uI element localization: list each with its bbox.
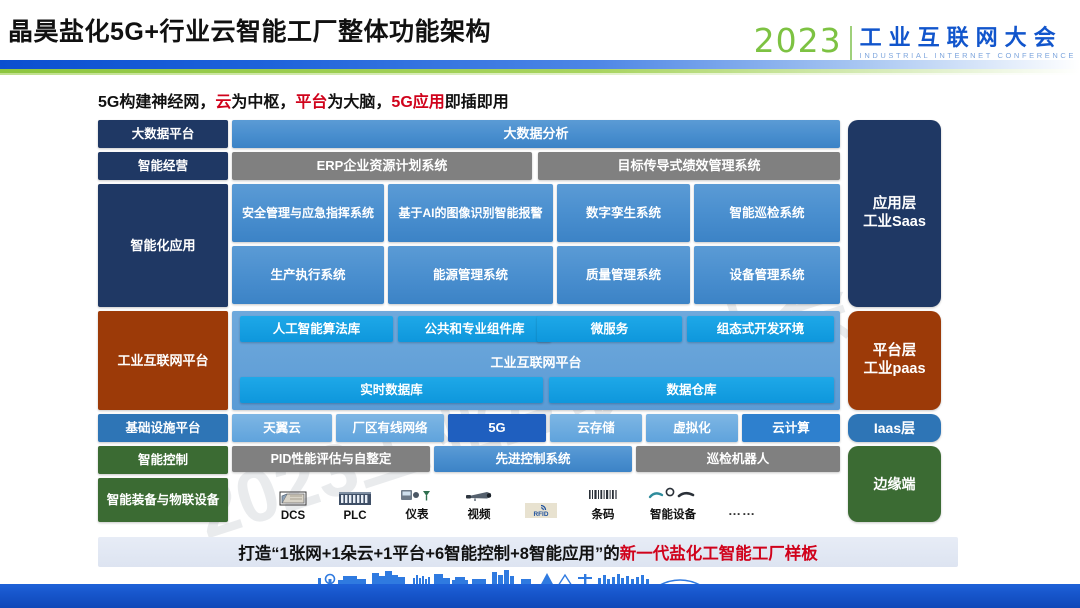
headline: 5G构建神经网，云为中枢，平台为大脑，5G应用即插即用 xyxy=(98,88,509,112)
device-label: 视频 xyxy=(468,506,491,522)
left-label-smart-operation[interactable]: 智能经营 xyxy=(98,152,228,180)
right-label-line2: 工业paas xyxy=(863,361,925,378)
device-barcode[interactable]: 条码 xyxy=(572,484,634,522)
rfid-icon: RFID xyxy=(521,500,561,520)
device-label: DCS xyxy=(281,510,305,522)
platform-center-label: 工业互联网平台 xyxy=(232,348,840,374)
cell-configuration-dev-env[interactable]: 组态式开发环境 xyxy=(687,316,834,342)
cell-erp-system[interactable]: ERP企业资源计划系统 xyxy=(232,152,532,180)
cell-advanced-control[interactable]: 先进控制系统 xyxy=(434,446,632,472)
headline-seg-2: 云 xyxy=(215,94,231,111)
left-label-infrastructure[interactable]: 基础设施平台 xyxy=(98,414,228,442)
footer-band xyxy=(0,584,1080,608)
headline-seg-3: 为中枢， xyxy=(231,94,295,111)
plc-icon xyxy=(338,488,372,508)
device-video[interactable]: 视频 xyxy=(448,484,510,522)
ellipsis-icon: …… xyxy=(728,503,756,522)
headline-seg-4: 平台 xyxy=(295,94,327,111)
left-label-smart-control[interactable]: 智能控制 xyxy=(98,446,228,474)
cell-performance-system[interactable]: 目标传导式绩效管理系统 xyxy=(538,152,840,180)
banner-text-black: 打造“1张网+1朵云+1平台+6智能控制+8智能应用”的 xyxy=(238,540,619,564)
left-label-smart-applications[interactable]: 智能化应用 xyxy=(98,184,228,307)
device-label: PLC xyxy=(344,510,367,522)
right-label-edge-layer[interactable]: 边缘端 xyxy=(848,446,941,522)
right-label-line1: Iaas层 xyxy=(874,420,915,437)
device-label: 仪表 xyxy=(406,506,429,522)
cell-cloud-computing[interactable]: 云计算 xyxy=(742,414,840,442)
dcs-icon xyxy=(278,488,308,508)
headline-seg-1: 5G构建神经网， xyxy=(98,94,215,111)
cell-microservices[interactable]: 微服务 xyxy=(537,316,682,342)
logo-chinese-name: 工业互联网大会 xyxy=(860,26,1076,50)
cell-data-warehouse[interactable]: 数据仓库 xyxy=(549,377,834,403)
right-label-application-layer[interactable]: 应用层 工业Saas xyxy=(848,120,941,307)
device-row: DCS PLC 仪表 视频 RFID xyxy=(262,480,840,522)
right-label-line1: 边缘端 xyxy=(874,476,916,493)
cell-virtualization[interactable]: 虚拟化 xyxy=(646,414,738,442)
cell-realtime-database[interactable]: 实时数据库 xyxy=(240,377,543,403)
camera-icon xyxy=(461,484,497,504)
architecture-diagram: 大数据平台 智能经营 智能化应用 工业互联网平台 基础设施平台 智能控制 智能装… xyxy=(0,112,1080,542)
cell-ai-algorithm-library[interactable]: 人工智能算法库 xyxy=(240,316,393,342)
svg-text:RFID: RFID xyxy=(534,511,549,518)
device-dcs[interactable]: DCS xyxy=(262,488,324,522)
cell-5g[interactable]: 5G xyxy=(448,414,546,442)
right-label-platform-layer[interactable]: 平台层 工业paas xyxy=(848,311,941,410)
cell-plant-wired-network[interactable]: 厂区有线网络 xyxy=(336,414,444,442)
cell-tianyi-cloud[interactable]: 天翼云 xyxy=(232,414,332,442)
cell-safety-emergency-system[interactable]: 安全管理与应急指挥系统 xyxy=(232,184,384,242)
device-plc[interactable]: PLC xyxy=(324,488,386,522)
cell-energy-management[interactable]: 能源管理系统 xyxy=(388,246,553,304)
header-green-band-light xyxy=(0,73,1080,75)
left-label-bigdata-platform[interactable]: 大数据平台 xyxy=(98,120,228,148)
right-label-line1: 应用层 xyxy=(873,196,917,213)
device-label: 智能设备 xyxy=(650,506,696,522)
left-label-iiot-platform[interactable]: 工业互联网平台 xyxy=(98,311,228,410)
slide-footer xyxy=(0,576,1080,608)
cell-equipment-management[interactable]: 设备管理系统 xyxy=(694,246,840,304)
right-label-iaas-layer[interactable]: Iaas层 xyxy=(848,414,941,442)
device-ellipsis: …… xyxy=(712,503,772,522)
cell-mes-system[interactable]: 生产执行系统 xyxy=(232,246,384,304)
cell-quality-management[interactable]: 质量管理系统 xyxy=(557,246,690,304)
logo-english-name: INDUSTRIAL INTERNET CONFERENCE xyxy=(860,51,1076,60)
meter-icon xyxy=(399,484,435,504)
header-blue-band xyxy=(0,60,1080,69)
left-label-smart-equipment-iot[interactable]: 智能装备与物联设备 xyxy=(98,478,228,522)
logo-year: 2023 xyxy=(754,24,842,58)
page-title: 晶昊盐化5G+行业云智能工厂整体功能架构 xyxy=(8,12,491,48)
cell-digital-twin-system[interactable]: 数字孪生系统 xyxy=(557,184,690,242)
headline-seg-6: 5G应用 xyxy=(391,94,444,111)
banner-text-red: 新一代盐化工智能工厂样板 xyxy=(620,540,818,564)
cell-cloud-storage[interactable]: 云存储 xyxy=(550,414,642,442)
right-label-line1: 平台层 xyxy=(873,343,917,360)
summary-banner: 打造“1张网+1朵云+1平台+6智能控制+8智能应用”的新一代盐化工智能工厂样板 xyxy=(98,537,958,567)
cell-pid-tuning[interactable]: PID性能评估与自整定 xyxy=(232,446,430,472)
cell-inspection-robot[interactable]: 巡检机器人 xyxy=(636,446,840,472)
smart-device-icon xyxy=(646,484,700,504)
cell-component-library[interactable]: 公共和专业组件库 xyxy=(398,316,551,342)
right-label-line2: 工业Saas xyxy=(863,214,926,231)
device-rfid[interactable]: RFID xyxy=(510,500,572,522)
headline-seg-7: 即插即用 xyxy=(445,94,509,111)
cell-bigdata-analytics[interactable]: 大数据分析 xyxy=(232,120,840,148)
cell-ai-image-recognition[interactable]: 基于AI的图像识别智能报警 xyxy=(388,184,553,242)
device-meter[interactable]: 仪表 xyxy=(386,484,448,522)
device-smart[interactable]: 智能设备 xyxy=(634,484,712,522)
cell-smart-inspection-system[interactable]: 智能巡检系统 xyxy=(694,184,840,242)
device-label: 条码 xyxy=(592,506,615,522)
headline-seg-5: 为大脑， xyxy=(327,94,391,111)
barcode-icon xyxy=(585,484,621,504)
